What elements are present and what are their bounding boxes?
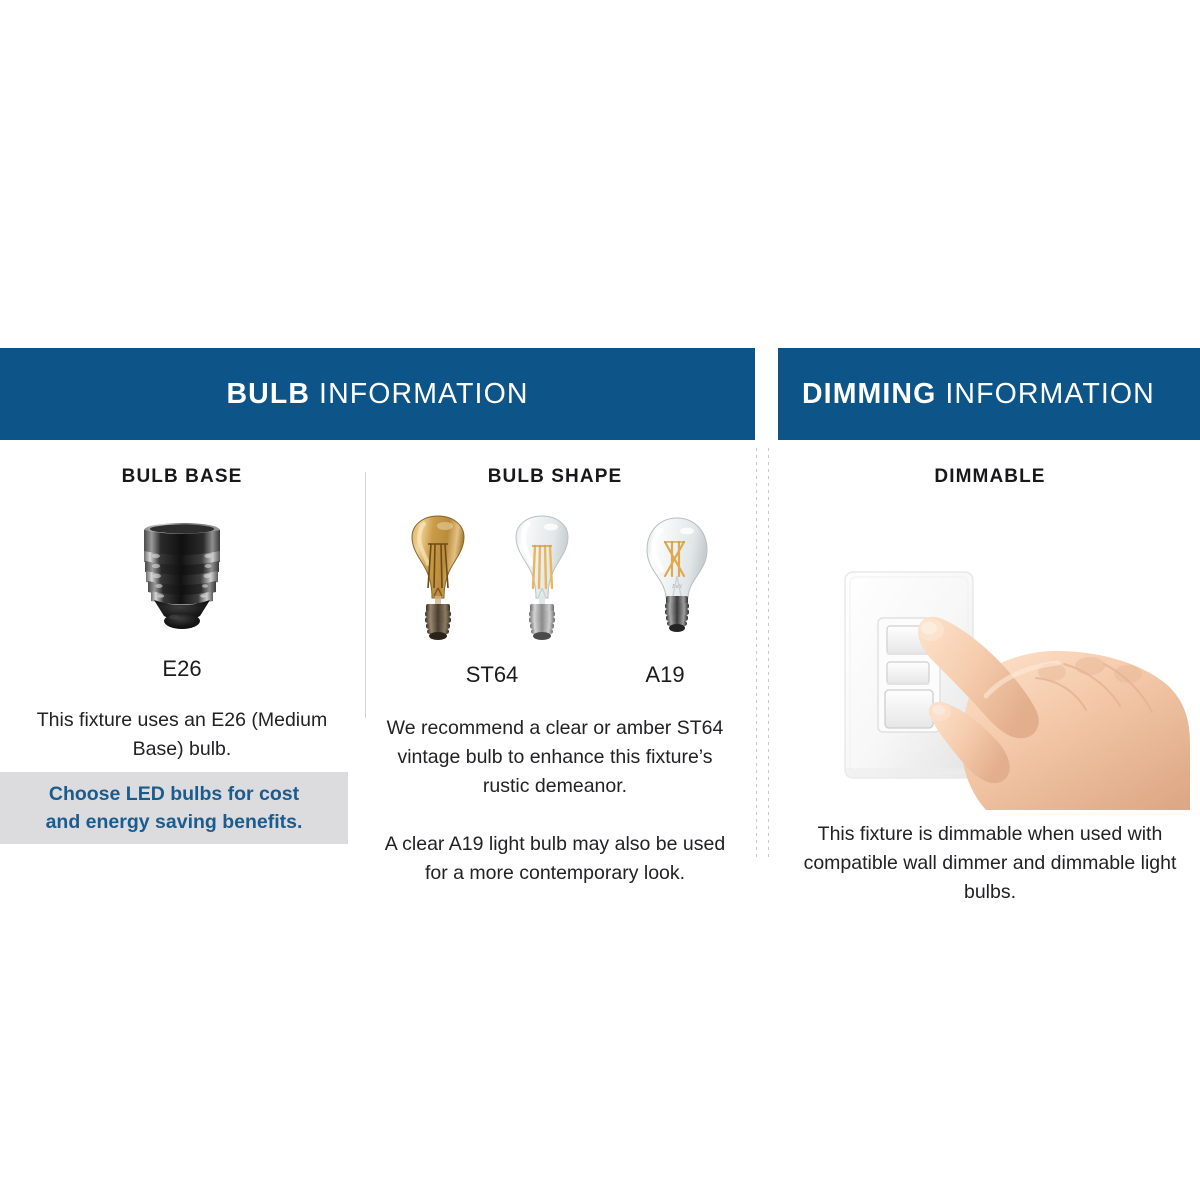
column-divider xyxy=(365,472,366,718)
dimmable-heading: DIMMABLE xyxy=(790,466,1190,488)
led-callout-line-2: and energy saving benefits. xyxy=(46,808,303,836)
led-callout-box: Choose LED bulbs for cost and energy sav… xyxy=(0,772,348,844)
bulb-base-label: E26 xyxy=(8,656,356,682)
dimmable-column: DIMMABLE xyxy=(790,466,1190,907)
led-callout-line-1: Choose LED bulbs for cost xyxy=(49,780,299,808)
st64-amber-bulb-icon xyxy=(390,512,486,648)
a19-clear-bulb-icon: Feit xyxy=(634,512,720,648)
section-divider-dotted-left xyxy=(756,448,757,860)
bulb-shape-paragraph-2: A clear A19 light bulb may also be used … xyxy=(375,830,735,888)
bulb-shape-paragraph-1: We recommend a clear or amber ST64 vinta… xyxy=(375,714,735,801)
bulb-base-heading: BULB BASE xyxy=(8,466,356,488)
bulb-information-title-bold: BULB xyxy=(226,378,310,410)
hand-pressing-dimmer-switch-icon xyxy=(790,510,1190,810)
dimming-information-title-light: INFORMATION xyxy=(936,378,1155,410)
bulb-shape-images: Feit xyxy=(375,512,735,648)
bulb-shape-column: BULB SHAPE xyxy=(375,466,735,888)
bulb-information-header: BULB INFORMATION xyxy=(0,348,755,440)
dimming-information-title: DIMMING INFORMATION xyxy=(802,378,1155,411)
dimmable-paragraph: This fixture is dimmable when used with … xyxy=(790,820,1190,907)
dimming-information-title-bold: DIMMING xyxy=(802,378,936,410)
bulb-shape-label-st64: ST64 xyxy=(437,662,547,688)
bulb-information-title: BULB INFORMATION xyxy=(226,378,528,411)
bulb-shape-heading: BULB SHAPE xyxy=(375,466,735,488)
bulb-dimming-info-graphic: BULB INFORMATION DIMMING INFORMATION BUL… xyxy=(0,0,1200,1200)
e26-screw-base-icon xyxy=(126,518,238,634)
bulb-shape-label-a19: A19 xyxy=(610,662,720,688)
dimming-information-header: DIMMING INFORMATION xyxy=(778,348,1200,440)
bulb-information-title-light: INFORMATION xyxy=(310,378,529,410)
svg-text:Feit: Feit xyxy=(671,584,682,590)
bulb-base-column: BULB BASE xyxy=(8,466,356,764)
bulb-base-description: This fixture uses an E26 (Medium Base) b… xyxy=(8,706,356,764)
bulb-shape-labels: ST64 A19 xyxy=(375,662,735,692)
section-divider-dotted-right xyxy=(768,448,769,860)
st64-clear-bulb-icon xyxy=(494,512,590,648)
